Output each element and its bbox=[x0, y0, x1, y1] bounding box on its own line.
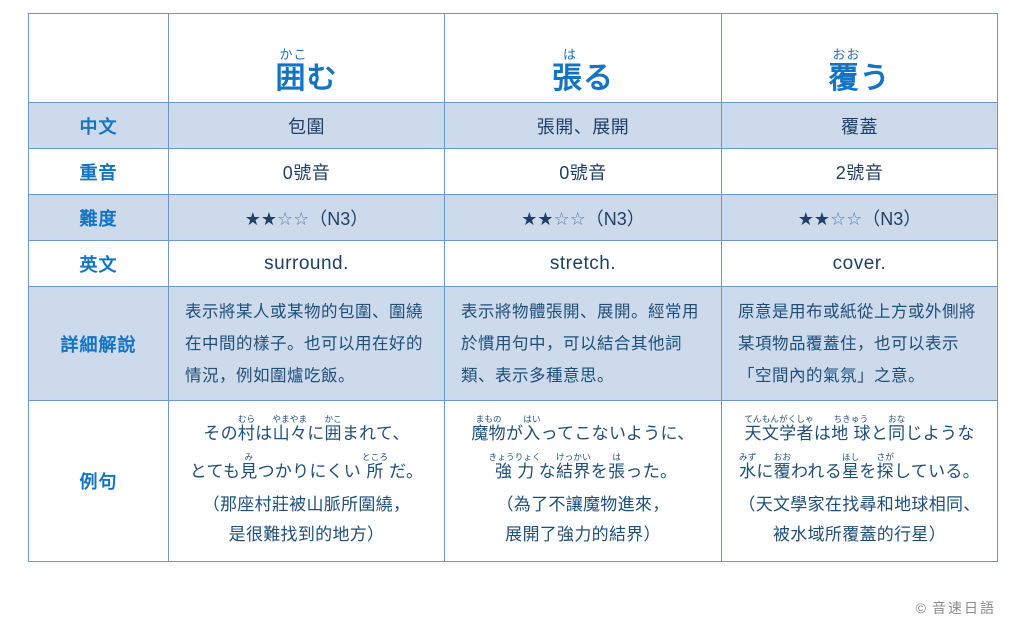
plain-text: に bbox=[756, 462, 773, 481]
example-translation-line-1: （那座村莊被山脈所圍繞， bbox=[177, 490, 436, 520]
furigana: ほし bbox=[842, 452, 859, 462]
ruby-text: 所ところ bbox=[366, 462, 384, 481]
plain-text: が bbox=[506, 424, 523, 443]
table-row: 難度★★☆☆（N3）★★☆☆（N3）★★☆☆（N3） bbox=[29, 195, 998, 241]
row-label: 例句 bbox=[29, 468, 168, 494]
ruby-text: 村むら bbox=[238, 424, 255, 443]
row-label: 中文 bbox=[29, 113, 168, 139]
word-furigana: おお bbox=[832, 48, 860, 62]
star-filled-icon: ★★ bbox=[245, 209, 277, 229]
row-label: 英文 bbox=[29, 251, 168, 277]
difficulty-rating: ★★☆☆（N3） bbox=[445, 205, 721, 231]
word-header: おお覆う bbox=[722, 14, 997, 102]
furigana: は bbox=[608, 452, 625, 462]
ruby-text: 張は bbox=[608, 462, 625, 481]
word-header: は張る bbox=[445, 14, 721, 102]
value-cell: 包圍 bbox=[169, 103, 445, 149]
row-label-cell: 例句 bbox=[29, 401, 169, 562]
row-label-cell: 詳細解說 bbox=[29, 287, 169, 401]
star-filled-icon: ★★ bbox=[798, 209, 830, 229]
copyright-icon: © bbox=[916, 600, 928, 616]
value-cell: 0號音 bbox=[445, 149, 722, 195]
plain-text: とても bbox=[190, 462, 241, 481]
furigana: み bbox=[240, 452, 257, 462]
furigana: さが bbox=[877, 452, 894, 462]
value-cell: surround. bbox=[169, 241, 445, 287]
plain-text: と bbox=[871, 424, 888, 443]
example-sentence-cell: その村むらは山々やまやまに囲かこまれて、とても見みつかりにくい 所ところ だ。（… bbox=[169, 401, 445, 562]
word-header-cell: おお覆う bbox=[722, 14, 998, 103]
ruby-text: 水みず bbox=[739, 462, 756, 481]
example-japanese-line-2: とても見みつかりにくい 所ところ だ。 bbox=[177, 452, 436, 481]
plain-text: に bbox=[307, 424, 324, 443]
description-cell: 表示將物體張開、展開。經常用於慣用句中，可以結合其他詞類、表示多種意思。 bbox=[445, 287, 722, 401]
table-row: 詳細解說表示將某人或某物的包圍、圍繞在中間的樣子。也可以用在好的情況，例如圍爐吃… bbox=[29, 287, 998, 401]
value-cell: 張開、展開 bbox=[445, 103, 722, 149]
cell-value: 張開、展開 bbox=[445, 113, 721, 139]
word-main-label: 覆う bbox=[829, 62, 891, 97]
furigana: むら bbox=[238, 414, 255, 424]
difficulty-cell: ★★☆☆（N3） bbox=[169, 195, 445, 241]
table-row: 例句その村むらは山々やまやまに囲かこまれて、とても見みつかりにくい 所ところ だ… bbox=[29, 401, 998, 562]
example-translation-line-1: （天文學家在找尋和地球相同、 bbox=[730, 490, 989, 520]
difficulty-rating: ★★☆☆（N3） bbox=[169, 205, 444, 231]
furigana: ところ bbox=[362, 452, 388, 462]
plain-text: は bbox=[814, 424, 831, 443]
table-corner-cell bbox=[29, 14, 169, 103]
example-japanese-line-1: その村むらは山々やまやまに囲かこまれて、 bbox=[177, 414, 436, 443]
plain-text: われる bbox=[791, 462, 842, 481]
word-main-label: 囲む bbox=[276, 62, 338, 97]
row-label-cell: 難度 bbox=[29, 195, 169, 241]
table-row: 重音0號音0號音2號音 bbox=[29, 149, 998, 195]
cell-value: surround. bbox=[169, 253, 444, 275]
furigana: まもの bbox=[471, 414, 506, 424]
ruby-text: 結界けっかい bbox=[556, 462, 591, 481]
word-furigana: は bbox=[563, 48, 577, 62]
word-furigana: かこ bbox=[279, 48, 307, 62]
example-japanese-line-2: 強 力きょうりょくな結界けっかいを張はった。 bbox=[453, 452, 713, 481]
ruby-text: 囲かこ bbox=[325, 424, 342, 443]
ruby-text: 天文学者てんもんがくしゃ bbox=[744, 424, 814, 443]
value-cell: 0號音 bbox=[169, 149, 445, 195]
row-label: 重音 bbox=[29, 159, 168, 185]
page-root: かこ囲むは張るおお覆う中文包圍張開、展開覆蓋重音0號音0號音2號音難度★★☆☆（… bbox=[0, 0, 1024, 633]
word-main-label: 張る bbox=[552, 62, 614, 97]
furigana: はい bbox=[523, 414, 540, 424]
cell-value: 0號音 bbox=[445, 159, 721, 185]
furigana: きょうりょく bbox=[489, 452, 541, 462]
description-text: 表示將某人或某物的包圍、圍繞在中間的樣子。也可以用在好的情況，例如圍爐吃飯。 bbox=[169, 296, 444, 392]
footer-copyright: ©音速日語 bbox=[916, 598, 996, 618]
word-header-cell: かこ囲む bbox=[169, 14, 445, 103]
plain-text: った。 bbox=[625, 462, 677, 481]
example-sentence-cell: 天文学者てんもんがくしゃは地 球ちきゅうと同おなじような水みずに覆おおわれる星ほ… bbox=[722, 401, 998, 562]
plain-text: じような bbox=[905, 424, 974, 443]
row-label: 難度 bbox=[29, 205, 168, 231]
table-row: 中文包圍張開、展開覆蓋 bbox=[29, 103, 998, 149]
table-row: 英文surround.stretch.cover. bbox=[29, 241, 998, 287]
star-empty-icon: ☆☆ bbox=[830, 209, 862, 229]
example-translation-line-2: 是很難找到的地方） bbox=[177, 520, 436, 550]
ruby-text: 星ほし bbox=[842, 462, 859, 481]
description-cell: 表示將某人或某物的包圍、圍繞在中間的樣子。也可以用在好的情況，例如圍爐吃飯。 bbox=[169, 287, 445, 401]
ruby-text: 強 力きょうりょく bbox=[489, 462, 539, 481]
cell-value: 0號音 bbox=[169, 159, 444, 185]
example-sentence: その村むらは山々やまやまに囲かこまれて、とても見みつかりにくい 所ところ だ。（… bbox=[169, 404, 444, 558]
ruby-text: 見み bbox=[240, 462, 257, 481]
plain-text: つかりにくい bbox=[258, 462, 366, 481]
star-empty-icon: ☆☆ bbox=[553, 209, 585, 229]
plain-text: を bbox=[859, 462, 876, 481]
plain-text: だ。 bbox=[384, 462, 423, 481]
word-header-cell: は張る bbox=[445, 14, 722, 103]
star-empty-icon: ☆☆ bbox=[277, 209, 309, 229]
example-japanese-line-2: 水みずに覆おおわれる星ほしを探さがしている。 bbox=[730, 452, 989, 481]
row-label-cell: 重音 bbox=[29, 149, 169, 195]
cell-value: 包圍 bbox=[169, 113, 444, 139]
plain-text: な bbox=[539, 462, 556, 481]
ruby-text: 山々やまやま bbox=[273, 424, 308, 443]
example-sentence: 魔物まものが入はいってこないように、強 力きょうりょくな結界けっかいを張はった。… bbox=[445, 404, 721, 558]
cell-value: stretch. bbox=[445, 253, 721, 275]
furigana: てんもんがくしゃ bbox=[744, 414, 814, 424]
furigana: かこ bbox=[324, 414, 341, 424]
plain-text: を bbox=[591, 462, 608, 481]
example-japanese-line-1: 天文学者てんもんがくしゃは地 球ちきゅうと同おなじような bbox=[730, 414, 989, 443]
furigana: けっかい bbox=[556, 452, 591, 462]
value-cell: cover. bbox=[722, 241, 998, 287]
difficulty-cell: ★★☆☆（N3） bbox=[445, 195, 722, 241]
jlpt-level-label: （N3） bbox=[862, 209, 921, 229]
vocabulary-comparison-table: かこ囲むは張るおお覆う中文包圍張開、展開覆蓋重音0號音0號音2號音難度★★☆☆（… bbox=[28, 13, 998, 562]
ruby-text: 魔物まもの bbox=[471, 424, 506, 443]
value-cell: 2號音 bbox=[722, 149, 998, 195]
ruby-text: 同おな bbox=[888, 424, 905, 443]
example-translation-line-2: 展開了強力的結界） bbox=[453, 520, 713, 550]
cell-value: 覆蓋 bbox=[722, 113, 997, 139]
jlpt-level-label: （N3） bbox=[586, 209, 645, 229]
cell-value: cover. bbox=[722, 253, 997, 275]
furigana: おお bbox=[774, 452, 791, 462]
ruby-text: 入はい bbox=[523, 424, 540, 443]
word-header: かこ囲む bbox=[169, 14, 444, 102]
table-header-row: かこ囲むは張るおお覆う bbox=[29, 14, 998, 103]
furigana: ちきゅう bbox=[831, 414, 871, 424]
furigana: おな bbox=[888, 414, 905, 424]
example-japanese-line-1: 魔物まものが入はいってこないように、 bbox=[453, 414, 713, 443]
plain-text: している。 bbox=[894, 462, 980, 481]
plain-text: その bbox=[203, 424, 238, 443]
row-label: 詳細解說 bbox=[29, 331, 168, 357]
plain-text: まれて、 bbox=[342, 424, 410, 443]
star-filled-icon: ★★ bbox=[521, 209, 553, 229]
furigana: やまやま bbox=[272, 414, 307, 424]
jlpt-level-label: （N3） bbox=[309, 209, 368, 229]
plain-text: は bbox=[255, 424, 272, 443]
example-sentence: 天文学者てんもんがくしゃは地 球ちきゅうと同おなじような水みずに覆おおわれる星ほ… bbox=[722, 404, 997, 558]
example-translation-line-1: （為了不讓魔物進來， bbox=[453, 490, 713, 520]
difficulty-cell: ★★☆☆（N3） bbox=[722, 195, 998, 241]
cell-value: 2號音 bbox=[722, 159, 997, 185]
footer-brand-label: 音速日語 bbox=[932, 600, 996, 616]
row-label-cell: 中文 bbox=[29, 103, 169, 149]
difficulty-rating: ★★☆☆（N3） bbox=[722, 205, 997, 231]
ruby-text: 探さが bbox=[877, 462, 894, 481]
plain-text: ってこないように、 bbox=[541, 424, 695, 443]
example-translation-line-2: 被水域所覆蓋的行星） bbox=[730, 520, 989, 550]
value-cell: stretch. bbox=[445, 241, 722, 287]
row-label-cell: 英文 bbox=[29, 241, 169, 287]
ruby-text: 地 球ちきゅう bbox=[831, 424, 871, 443]
example-sentence-cell: 魔物まものが入はいってこないように、強 力きょうりょくな結界けっかいを張はった。… bbox=[445, 401, 722, 562]
ruby-text: 覆おお bbox=[774, 462, 791, 481]
furigana: みず bbox=[739, 452, 756, 462]
description-text: 原意是用布或紙從上方或外側將某項物品覆蓋住，也可以表示「空間內的氣氛」之意。 bbox=[722, 296, 997, 392]
description-text: 表示將物體張開、展開。經常用於慣用句中，可以結合其他詞類、表示多種意思。 bbox=[445, 296, 721, 392]
value-cell: 覆蓋 bbox=[722, 103, 998, 149]
description-cell: 原意是用布或紙從上方或外側將某項物品覆蓋住，也可以表示「空間內的氣氛」之意。 bbox=[722, 287, 998, 401]
